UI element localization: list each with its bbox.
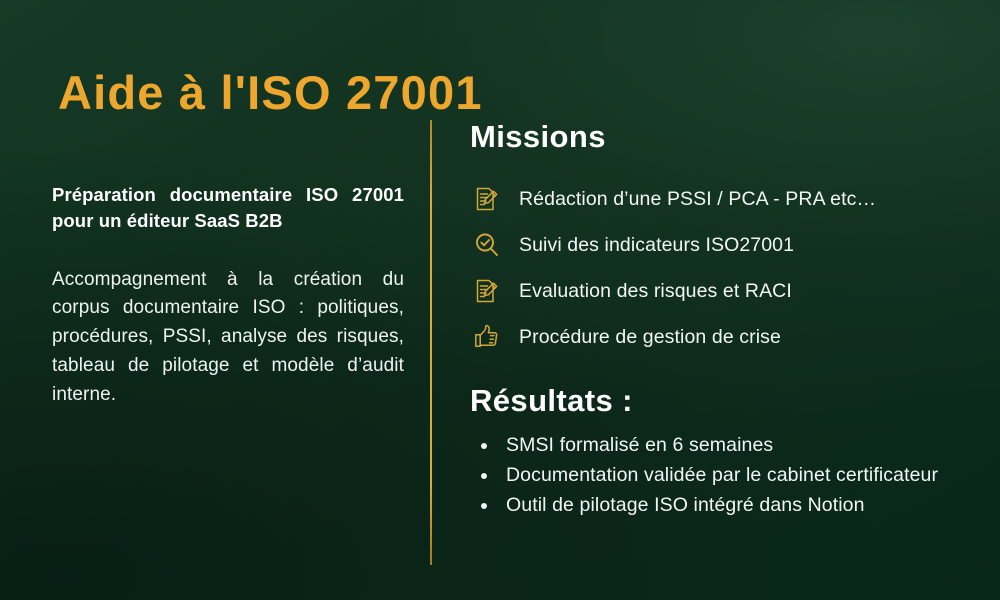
thumbs-up-icon	[470, 320, 504, 354]
lead-heading: Préparation documentaire ISO 27001 pour …	[52, 182, 404, 235]
result-item: SMSI formalisé en 6 semaines	[470, 432, 970, 460]
magnifier-check-icon	[470, 228, 504, 262]
mission-label: Suivi des indicateurs ISO27001	[519, 233, 794, 257]
right-content-column: Missions Rédaction d’une PSSI / PCA - PR…	[470, 120, 970, 521]
mission-item: Evaluation des risques et RACI	[470, 272, 970, 310]
document-pencil-icon	[470, 274, 504, 308]
mission-label: Rédaction d’une PSSI / PCA - PRA etc…	[519, 187, 876, 211]
missions-list: Rédaction d’une PSSI / PCA - PRA etc… Su…	[470, 180, 970, 356]
result-label: Outil de pilotage ISO intégré dans Notio…	[506, 494, 865, 516]
slide-canvas: Aide à l'ISO 27001 Préparation documenta…	[0, 0, 1000, 600]
result-item: Outil de pilotage ISO intégré dans Notio…	[470, 492, 970, 520]
result-label: Documentation validée par le cabinet cer…	[506, 464, 938, 486]
mission-item: Suivi des indicateurs ISO27001	[470, 226, 970, 264]
bullet-dot-icon	[481, 503, 487, 509]
missions-heading: Missions	[470, 120, 970, 154]
bullet-dot-icon	[481, 443, 487, 449]
results-list: SMSI formalisé en 6 semaines Documentati…	[470, 432, 970, 519]
mission-label: Procédure de gestion de crise	[519, 325, 781, 349]
left-content-column: Préparation documentaire ISO 27001 pour …	[52, 182, 404, 410]
bullet-dot-icon	[481, 473, 487, 479]
results-heading: Résultats :	[470, 384, 970, 418]
mission-item: Rédaction d’une PSSI / PCA - PRA etc…	[470, 180, 970, 218]
result-item: Documentation validée par le cabinet cer…	[470, 462, 970, 490]
vertical-divider	[430, 120, 432, 565]
page-title: Aide à l'ISO 27001	[58, 68, 483, 118]
result-label: SMSI formalisé en 6 semaines	[506, 434, 773, 456]
mission-label: Evaluation des risques et RACI	[519, 279, 792, 303]
body-paragraph: Accompagnement à la création du corpus d…	[52, 266, 404, 410]
document-pencil-icon	[470, 182, 504, 216]
mission-item: Procédure de gestion de crise	[470, 318, 970, 356]
